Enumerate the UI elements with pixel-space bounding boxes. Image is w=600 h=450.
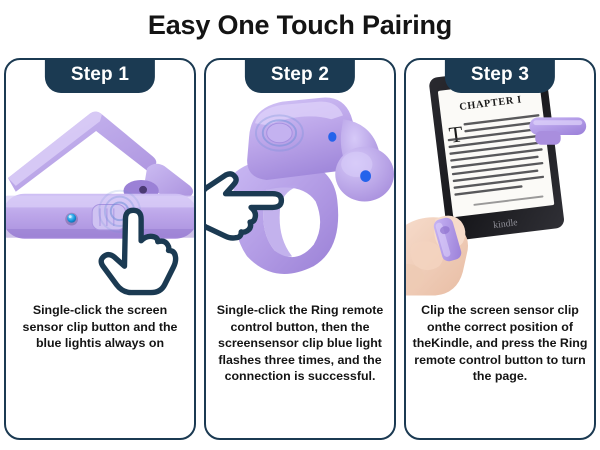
clip-illustration-svg xyxy=(6,60,194,298)
illustration-screen-sensor-clip xyxy=(6,60,194,298)
page-title: Easy One Touch Pairing xyxy=(0,8,600,42)
ring-illustration-svg xyxy=(206,60,394,298)
step-badge-2: Step 2 xyxy=(245,59,355,93)
step-panel-1: Step 1 xyxy=(4,58,196,440)
step-panel-2: Step 2 xyxy=(204,58,396,440)
step-panel-3: Step 3 xyxy=(404,58,596,440)
illustration-ring-remote xyxy=(206,60,394,298)
step-caption-2: Single-click the Ring remote control but… xyxy=(206,298,394,438)
blue-led-indicator xyxy=(65,213,78,226)
illustration-kindle-with-clip: CHAPTER I T xyxy=(406,60,594,298)
blue-dot-indicator xyxy=(328,132,336,142)
infographic-root: Easy One Touch Pairing Step 1 xyxy=(0,0,600,450)
step-badge-1: Step 1 xyxy=(45,59,155,93)
kindle-illustration-svg: CHAPTER I T xyxy=(406,60,594,298)
remote-button xyxy=(267,123,292,143)
remote-knob xyxy=(335,147,394,202)
clip-upper-arm xyxy=(8,112,193,200)
steps-container: Step 1 xyxy=(4,58,596,440)
screen-sensor-clip xyxy=(529,117,586,144)
step-caption-1: Single-click the screen sensor clip butt… xyxy=(6,298,194,438)
step-badge-3: Step 3 xyxy=(445,59,555,93)
step-caption-3: Clip the screen sensor clip onthe correc… xyxy=(406,298,594,438)
